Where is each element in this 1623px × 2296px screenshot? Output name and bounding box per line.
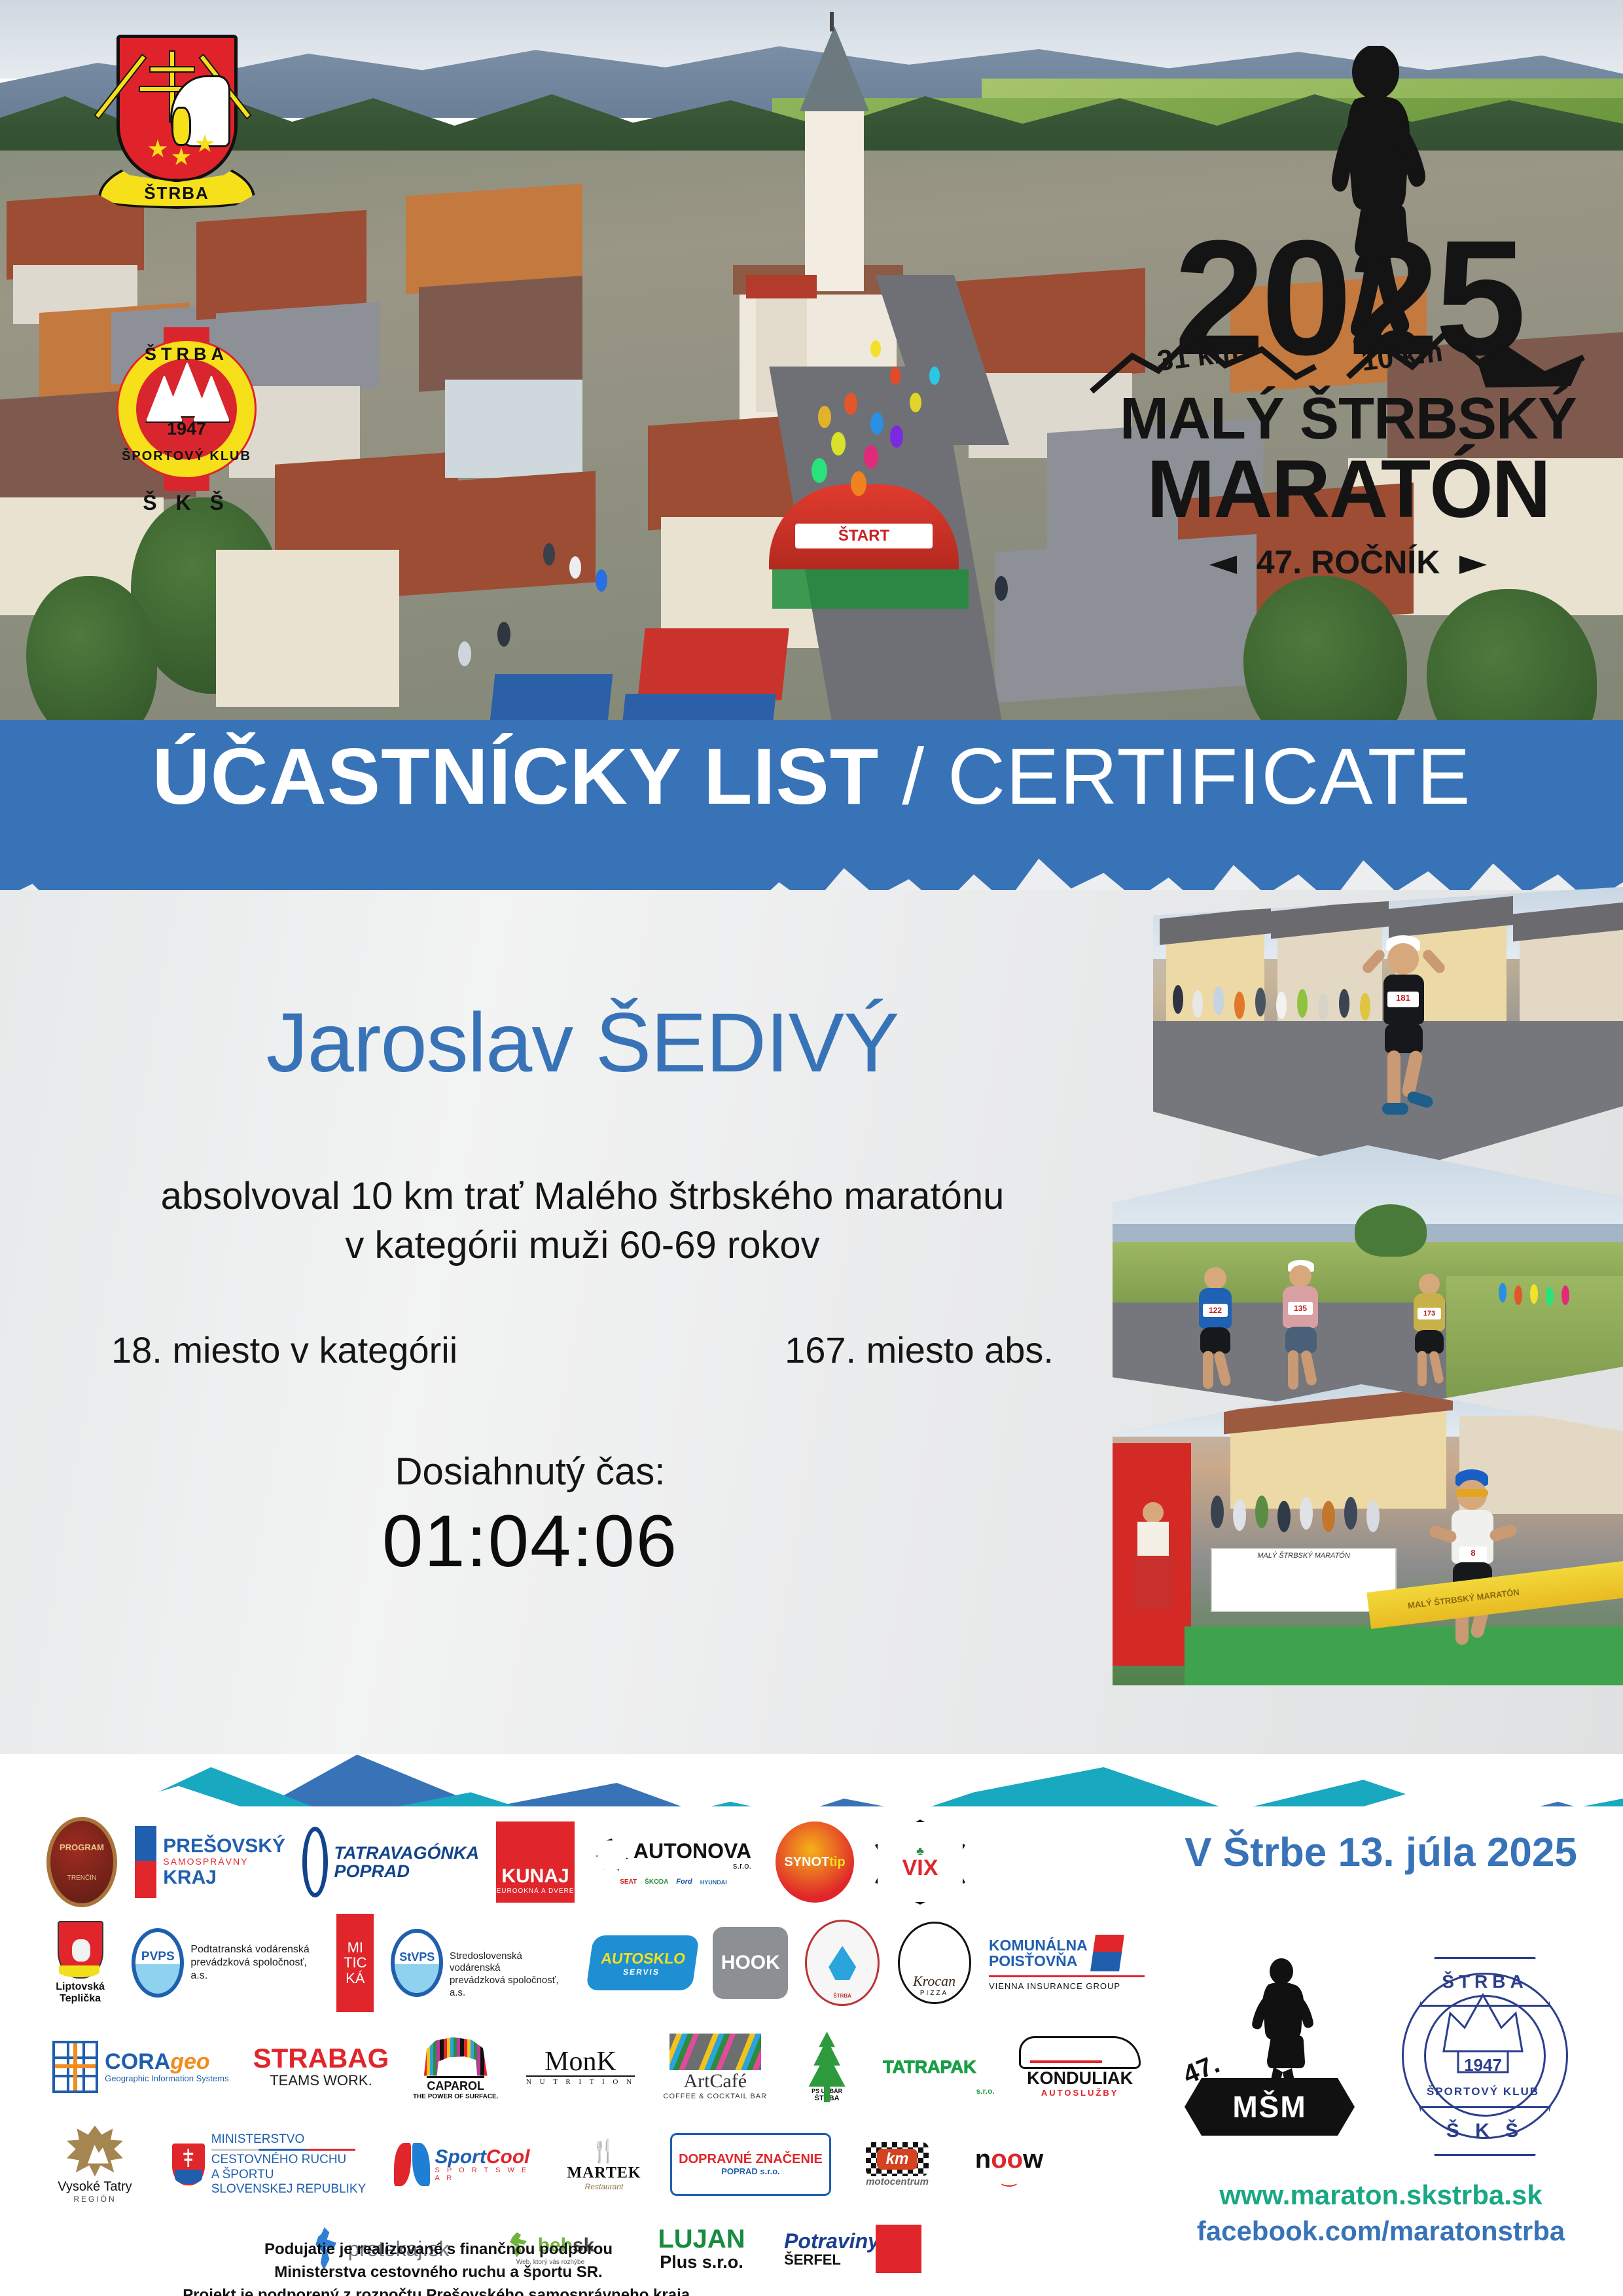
shorts xyxy=(1200,1327,1230,1354)
sponsor-logo-sportcool[interactable]: SportCool S P O R T S W E A R xyxy=(394,2128,538,2200)
runner-dot xyxy=(851,471,866,496)
house-wall xyxy=(216,550,399,707)
sponsor-sub: Podtatranská vodárenská xyxy=(190,1943,319,1956)
race-edition: 47. ROČNÍK xyxy=(1073,543,1623,581)
race-name-line1: MALÝ ŠTRBSKÝ xyxy=(1073,389,1623,448)
shorts xyxy=(1285,1327,1317,1353)
leg-left xyxy=(1387,1050,1400,1107)
sponsor-logo-noow[interactable]: noow ‿ xyxy=(963,2135,1055,2194)
spectator xyxy=(1192,990,1203,1018)
sponsor-logo-komunalna-poistovna[interactable]: KOMUNÁLNA POISŤOVŇA VIENNA INSURANCE GRO… xyxy=(989,1927,1145,1999)
skirt xyxy=(1133,1556,1173,1609)
runner-dot xyxy=(818,406,831,428)
head xyxy=(1143,1502,1164,1523)
sponsor-sub3: SLOVENSKEJ REPUBLIKY xyxy=(211,2182,366,2197)
sponsor-name: Krocan xyxy=(913,1973,955,1990)
sponsor-logo-caparol[interactable]: CAPAROL THE POWER OF SURFACE. xyxy=(406,2028,505,2106)
spectator xyxy=(1300,1497,1313,1530)
sponsor-logo-pvps[interactable]: PVPS Podtatranská vodárenská prevádzková… xyxy=(132,1927,319,1999)
spectator xyxy=(1255,988,1266,1016)
fork-icon: 🍴 xyxy=(590,2138,618,2164)
sponsor-sub: s.r.o. xyxy=(976,2087,995,2100)
sponsor-logo-vysoke-tatry-region[interactable]: Vysoké Tatry REGIÓN xyxy=(46,2122,144,2207)
support-note-line-3: Projekt je podporený z rozpočtu Prešovsk… xyxy=(92,2284,785,2296)
sponsor-name: KOMUNÁLNA xyxy=(989,1937,1088,1953)
sponsor-sub: CESTOVNÉHO RUCHU xyxy=(211,2153,366,2167)
sponsor-sub: AUTOSLUŽBY xyxy=(1041,2088,1119,2098)
sponsor-logo-vix[interactable]: ♣ VIX xyxy=(874,1820,966,1904)
sponsor-logo-miticka[interactable]: MI TIC KÁ xyxy=(336,1914,374,2012)
sponsor-name: Liptovská xyxy=(56,1981,105,1993)
sponsor-name: KONDULIAK xyxy=(1027,2069,1133,2089)
sponsor-sub: TRENČÍN xyxy=(67,1874,96,1882)
clock-tower-roof xyxy=(746,275,817,298)
runner-dot xyxy=(811,458,827,483)
spectator-dot xyxy=(543,543,555,565)
spectator xyxy=(1173,985,1183,1014)
leg-right xyxy=(1213,1350,1232,1387)
sponsor-logo-monk-nutrition[interactable]: MonK N U T R I T I O N xyxy=(522,2031,639,2103)
runner-dot xyxy=(844,393,857,415)
runner-122: 122 xyxy=(1185,1263,1257,1414)
strba-coat-of-arms: ŠTRBA xyxy=(98,29,255,226)
finish-mat xyxy=(1185,1626,1623,1685)
arm-cuff xyxy=(171,107,191,146)
sponsor-name: TATRAVAGÓNKA xyxy=(334,1844,479,1862)
distant-runner xyxy=(1561,1285,1569,1305)
arm-left xyxy=(1361,948,1387,975)
sponsor-logo-ps-urbar-strba[interactable]: PS URBÁR ŠTRBA xyxy=(791,2021,863,2113)
church-tower xyxy=(805,101,864,291)
msm-emblem: 47. MŠM xyxy=(1178,1957,1374,2153)
head xyxy=(1204,1267,1226,1289)
club-abbr: Š K Š xyxy=(116,491,257,515)
arm-right xyxy=(1421,948,1447,975)
distant-runner xyxy=(1546,1287,1554,1306)
sponsor-sub: Teplička xyxy=(60,1993,101,2005)
edition-label: 47. ROČNÍK xyxy=(1257,544,1440,581)
sponsor-logo-ministerstvo[interactable]: MINISTERSTVO CESTOVNÉHO RUCHU A ŠPORTU S… xyxy=(161,2122,377,2207)
leg-right xyxy=(1300,1350,1318,1386)
sponsor-logo-tatravagonka[interactable]: TATRAVAGÓNKA POPRAD xyxy=(302,1823,479,1901)
sponsor-logo-kunaj[interactable]: KUNAJ EUROOKNÁ A DVERE xyxy=(496,1821,575,1903)
time-value: 01:04:06 xyxy=(39,1499,1021,1583)
leg-left xyxy=(1418,1351,1427,1386)
placement-row: 18. miesto v kategórii 167. miesto abs. xyxy=(39,1329,1126,1371)
sponsor-row-4: Vysoké Tatry REGIÓN MINISTERSTVO CESTOVN… xyxy=(46,2122,1145,2207)
sponsor-name: MARTEK xyxy=(567,2164,641,2182)
head xyxy=(1419,1274,1440,1295)
runner-dot xyxy=(910,393,921,412)
spectator-dot xyxy=(596,569,607,592)
bib-number: 8 xyxy=(1459,1547,1487,1562)
runner-dot xyxy=(864,445,878,469)
sponsor-name: MI TIC KÁ xyxy=(336,1940,374,1985)
sponsor-name: MonK xyxy=(544,2048,616,2075)
certificate-title: ÚČASTNÍCKY LIST / CERTIFICATE xyxy=(0,736,1623,816)
sponsor-sub2: A ŠPORTU xyxy=(211,2168,366,2182)
sks-bottom-text: ŠPORTOVÝ KLUB xyxy=(1411,2085,1555,2098)
cross-arm-upper xyxy=(149,66,195,73)
sponsor-logo-konduliak[interactable]: KONDULIAK AUTOSLUŽBY xyxy=(1014,2031,1145,2103)
sponsor-name: StVPS xyxy=(399,1950,435,1964)
brand-ford: Ford xyxy=(676,1878,692,1886)
arrow-right-icon xyxy=(1459,556,1487,574)
sponsor-name: PROGRAM xyxy=(60,1842,104,1852)
sks-year: 1947 xyxy=(1424,2055,1542,2075)
bib-number: 135 xyxy=(1288,1302,1313,1315)
certificate-page: ŠTART xyxy=(0,0,1623,2296)
runner-dot xyxy=(831,432,846,456)
folk-costume-girl xyxy=(1131,1502,1177,1613)
sponsor-sub: Restaurant xyxy=(585,2182,624,2191)
sponsor-row-1: PROGRAM TRENČÍN PREŠOVSKÝ SAMOSPRÁVNY KR… xyxy=(46,1820,1145,1905)
sks-top-text: ŠTRBA xyxy=(1442,1971,1527,1992)
sponsor-logo-potraviny-serfel[interactable]: Potraviny ŠERFEL xyxy=(777,2216,928,2282)
bib-number: 122 xyxy=(1203,1304,1228,1317)
sponsor-name: DOPRAVNÉ ZNAČENIE xyxy=(679,2153,823,2166)
head xyxy=(1387,943,1419,975)
spectator xyxy=(1234,992,1245,1019)
sponsor-logo-strabag[interactable]: STRABAG TEAMS WORK. xyxy=(253,2034,390,2100)
sponsor-grid: PROGRAM TRENČÍN PREŠOVSKÝ SAMOSPRÁVNY KR… xyxy=(46,1820,1145,2291)
sponsor-row-3: CORAgeo Geographic Information Systems S… xyxy=(46,2021,1145,2113)
certificate-date: V Štrbe 13. júla 2025 xyxy=(1152,1829,1610,1876)
spectator-dot xyxy=(458,641,471,666)
runner-dot xyxy=(870,340,881,357)
star-burst-icon xyxy=(596,1839,628,1871)
sponsor-name: VIX xyxy=(902,1857,938,1879)
sponsor-name: SYNOT xyxy=(784,1855,829,1870)
leg-right xyxy=(1429,1350,1444,1384)
sponsor-name: MINISTERSTVO xyxy=(211,2132,366,2147)
sponsor-sub2: prevádzková spoločnosť, a.s. xyxy=(190,1956,319,1982)
website-url[interactable]: www.maraton.skstrba.sk xyxy=(1152,2179,1610,2211)
spectator xyxy=(1318,993,1329,1020)
sponsor-logo-autonova[interactable]: AUTONOVA s.r.o. SEAT ŠKODA Ford HYUNDAI xyxy=(592,1821,755,1903)
sponsor-sub: N U T R I T I O N xyxy=(526,2075,635,2086)
brand-skoda: ŠKODA xyxy=(645,1878,668,1886)
sks-stamp-emblem: ŠTRBA Š K Š 1947 ŠPORTOVÝ KLUB xyxy=(1387,1957,1584,2153)
sponsor-sub: REGIÓN xyxy=(73,2195,116,2204)
shorts xyxy=(1415,1330,1444,1354)
leg-left xyxy=(1288,1350,1298,1390)
lone-tree xyxy=(1355,1204,1427,1257)
participant-name: Jaroslav ŠEDIVÝ xyxy=(39,1001,1126,1085)
head xyxy=(1289,1265,1311,1287)
sunglasses-icon xyxy=(1455,1489,1488,1497)
sponsor-sub: SERVIS xyxy=(622,1967,660,1977)
blouse xyxy=(1137,1522,1169,1558)
facebook-url[interactable]: facebook.com/maratonstrba xyxy=(1139,2215,1623,2247)
sponsor-sub: Geographic Information Systems xyxy=(105,2074,228,2083)
sponsor-logo-krocan-pizza[interactable]: Krocan PIZZA xyxy=(897,1920,972,2005)
sponsor-sub: S P O R T S W E A R xyxy=(435,2167,538,2182)
spectator xyxy=(1339,989,1349,1018)
runner-173: 173 xyxy=(1400,1270,1466,1414)
sponsor-sub: COFFEE & COCKTAIL BAR xyxy=(664,2092,768,2100)
crest-municipality-label: ŠTRBA xyxy=(144,183,209,206)
spectator xyxy=(1213,986,1224,1015)
sponsor-sub: s.r.o. xyxy=(633,1861,751,1870)
spectator xyxy=(1276,992,1287,1019)
club-top-text: ŠTRBA xyxy=(116,344,257,365)
brand-hyundai: HYUNDAI xyxy=(700,1879,727,1886)
spectator-dot xyxy=(995,576,1008,601)
sponsor-name: Vysoké Tatry xyxy=(58,2179,132,2195)
sponsor-sub2: KRAJ xyxy=(163,1867,285,1888)
sportovy-klub-strba-emblem: ŠTRBA 1947 ŠPORTOVÝ KLUB Š K Š xyxy=(105,327,268,537)
sponsor-logo-martek[interactable]: 🍴 MARTEK Restaurant xyxy=(555,2125,653,2204)
runner-woman: 181 xyxy=(1349,926,1461,1142)
support-note-line-1: Podujatie je realizované s finančnou pod… xyxy=(92,2238,785,2261)
sponsor-name: Potraviny xyxy=(784,2231,880,2253)
distant-runner xyxy=(1514,1285,1522,1305)
msm-abbr: MŠM xyxy=(1232,2089,1306,2125)
church-cross xyxy=(830,12,834,31)
sponsor-logo-dopravne-znacenie[interactable]: DOPRAVNÉ ZNAČENIE POPRAD s.r.o. xyxy=(670,2133,831,2196)
sponsor-sub: motocentrum xyxy=(866,2176,929,2187)
spectator xyxy=(1297,989,1308,1018)
sponsor-name: TATRAPAK xyxy=(883,2057,976,2077)
race-name-line2: MARATÓN xyxy=(1073,448,1623,530)
rooftop xyxy=(399,471,596,596)
spectator xyxy=(1233,1499,1246,1531)
photo-runners-hill: 122 135 173 xyxy=(1113,1145,1623,1414)
footer-emblems: 47. MŠM ŠTRBA Š K Š 1947 ŠPORTOVÝ KLUB xyxy=(1178,1957,1610,2153)
brand-seat: SEAT xyxy=(620,1878,637,1886)
photo-winner-finish: MALÝ ŠTRBSKÝ MARATÓN 8 MALÝ ŠTRBSKÝ MARA… xyxy=(1113,1384,1623,1685)
photo-finisher-woman: 181 xyxy=(1153,887,1623,1175)
support-note-line-2: Ministerstva cestovného ruchu a športu S… xyxy=(92,2261,785,2284)
distant-runner xyxy=(1499,1283,1507,1302)
shoe-left xyxy=(1382,1103,1408,1115)
sks-abbr: Š K Š xyxy=(1446,2120,1524,2142)
rooftop xyxy=(419,276,582,391)
sponsor-logo-km-motocentrum[interactable]: km motocentrum xyxy=(848,2132,946,2197)
sponsor-name: AUTONOVA xyxy=(633,1840,751,1861)
spectator-dot xyxy=(497,622,510,647)
spectator xyxy=(1211,1496,1224,1528)
title-light-part: / CERTIFICATE xyxy=(902,732,1471,821)
sponsor-logo-presovsky-kraj[interactable]: PREŠOVSKÝ SAMOSPRÁVNY KRAJ xyxy=(135,1823,285,1901)
spectator xyxy=(1277,1501,1291,1532)
sponsor-sub: EUROOKNÁ A DVERE xyxy=(497,1888,575,1895)
sponsor-sub: THE POWER OF SURFACE. xyxy=(413,2093,499,2100)
sponsor-logo-hook[interactable]: HOOK xyxy=(713,1927,788,1999)
sponsor-sub: POISŤOVŇA xyxy=(989,1953,1088,1969)
rooftop xyxy=(196,210,366,320)
sponsor-name: STRABAG xyxy=(253,2045,389,2072)
sponsor-sub: TEAMS WORK. xyxy=(270,2072,372,2089)
sponsor-sub: ŠERFEL xyxy=(784,2252,880,2267)
runner-dot xyxy=(870,412,883,435)
sponsor-name: CAPAROL xyxy=(427,2076,484,2093)
sponsor-sub: POPRAD s.r.o. xyxy=(721,2166,780,2176)
sponsor-name: AUTOSKLO xyxy=(600,1950,687,1967)
spectator xyxy=(1255,1496,1268,1528)
sponsor-name: CORAgeo xyxy=(105,2051,228,2074)
sponsor-sub2: prevádzková spoločnosť, a.s. xyxy=(450,1975,573,2000)
sponsor-sub: POPRAD xyxy=(334,1862,479,1880)
description-line-1: absolvoval 10 km trať Malého štrbského m… xyxy=(39,1172,1126,1221)
start-arch-label: ŠTART xyxy=(795,524,933,548)
sponsor-logo-program-trencin[interactable]: PROGRAM TRENČÍN xyxy=(46,1820,118,1905)
leg-left xyxy=(1203,1351,1213,1389)
sponsor-sub: PIZZA xyxy=(920,1990,948,1997)
description-line-2: v kategórii muži 60-69 rokov xyxy=(39,1221,1126,1270)
spectator xyxy=(1322,1501,1335,1532)
sponsor-logo-corageo[interactable]: CORAgeo Geographic Information Systems xyxy=(46,2034,236,2100)
club-year: 1947 xyxy=(116,419,257,439)
sponsor-name: SportCool xyxy=(435,2147,538,2168)
house-wall xyxy=(445,380,582,478)
spectator xyxy=(1344,1497,1357,1530)
spectator xyxy=(1366,1501,1380,1532)
shoe-right xyxy=(1406,1090,1435,1109)
time-label: Dosiahnutý čas: xyxy=(39,1450,1021,1494)
sponsor-sub: ŠTRBA xyxy=(833,1993,851,1999)
title-bold-part: ÚČASTNÍCKY LIST xyxy=(152,732,879,821)
arrow-left-icon xyxy=(1209,556,1237,574)
shorts xyxy=(1385,1023,1423,1053)
club-bottom-text: ŠPORTOVÝ KLUB xyxy=(116,449,257,464)
runner-dot xyxy=(890,425,903,448)
sponsor-logo-artcafe[interactable]: ArtCafé COFFEE & COCKTAIL BAR xyxy=(656,2024,774,2109)
support-note: Podujatie je realizované s finančnou pod… xyxy=(92,2238,785,2296)
sponsor-name: HOOK xyxy=(721,1952,780,1974)
sponsor-logo-synottip[interactable]: SYNOTtip xyxy=(772,1820,857,1904)
sponsor-name: KUNAJ xyxy=(501,1865,569,1888)
runner-dot xyxy=(929,367,940,385)
sponsor-logo-liptovska-teplicka[interactable]: Liptovská Teplička xyxy=(46,1914,115,2012)
spectator-dot xyxy=(569,556,581,579)
sponsor-name: PREŠOVSKÝ xyxy=(163,1836,285,1857)
certificate-description: absolvoval 10 km trať Malého štrbského m… xyxy=(39,1172,1126,1270)
place-absolute: 167. miesto abs. xyxy=(785,1329,1054,1371)
sponsor-logo-pd-strba[interactable]: ŠTRBA xyxy=(805,1920,880,2005)
sponsor-name: ArtCafé xyxy=(683,2070,747,2092)
sponsor-logo-stvps[interactable]: StVPS Stredoslovenská vodárenská prevádz… xyxy=(391,1924,572,2002)
smile-icon: ‿ xyxy=(1003,2172,1016,2183)
sponsor-sub: tip xyxy=(829,1855,845,1870)
runner-dot xyxy=(890,367,901,385)
sponsor-row-2: Liptovská Teplička PVPS Podtatranská vod… xyxy=(46,1914,1145,2012)
photo-collage: 181 122 xyxy=(1113,880,1623,1731)
sponsor-name: km xyxy=(877,2149,918,2170)
sponsor-logo-tatrapak[interactable]: TATRAPAK s.r.o. xyxy=(880,2034,998,2100)
start-mat xyxy=(772,569,969,609)
red-tent xyxy=(637,628,789,700)
distant-runner xyxy=(1530,1284,1538,1304)
sponsor-sub2: VIENNA INSURANCE GROUP xyxy=(989,1981,1120,1991)
sponsor-sub: SAMOSPRÁVNY xyxy=(163,1857,285,1867)
bib-number: 173 xyxy=(1418,1308,1441,1319)
bib-number: 181 xyxy=(1387,992,1419,1007)
race-logo: 2025 31 km 10 km MALÝ ŠTRBSKÝ MARATÓN 47… xyxy=(1073,39,1623,615)
sponsor-sub: Stredoslovenská vodárenská xyxy=(450,1950,573,1975)
sponsor-logo-autosklo-servis[interactable]: AUTOSKLO SERVIS xyxy=(590,1927,696,1999)
sponsor-name: PVPS xyxy=(141,1950,175,1964)
place-in-category: 18. miesto v kategórii xyxy=(111,1329,457,1371)
